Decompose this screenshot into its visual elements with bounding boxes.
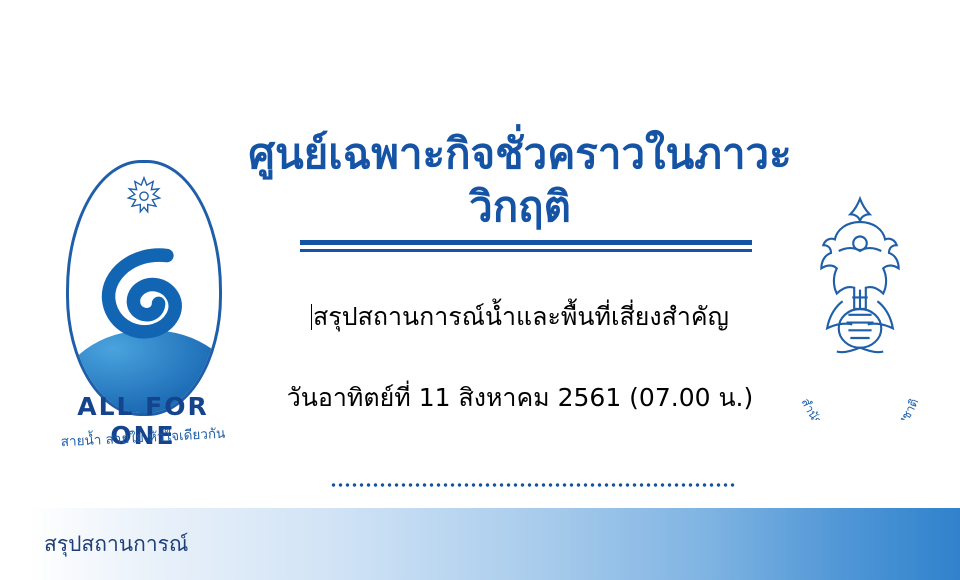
footer-label: สรุปสถานการณ์ (44, 528, 188, 561)
subtitle-line-2: วันอาทิตย์ที่ 11 สิงหาคม 2561 (07.00 น.) (230, 378, 810, 418)
page-title: ศูนย์เฉพาะกิจชั่วคราวในภาวะวิกฤติ (230, 128, 810, 233)
crown-icon (121, 175, 167, 221)
subtitle-line-1-text: สรุปสถานการณ์น้ำและพื้นที่เสี่ยงสำคัญ (313, 302, 729, 331)
subtitle-line-1: สรุปสถานการณ์น้ำและพื้นที่เสี่ยงสำคัญ (230, 300, 810, 334)
water-droplet-icon (66, 160, 222, 416)
rule-group (300, 240, 752, 252)
horizontal-rule-thick (300, 240, 752, 245)
dotted-separator (330, 482, 736, 488)
text-caret (311, 304, 312, 330)
water-swirl-icon (92, 241, 196, 345)
all-for-one-logo: ALL FOR ONE สายน้ำ สายใย หัวใจเดียวกัน (48, 160, 238, 460)
slide-canvas: ALL FOR ONE สายน้ำ สายใย หัวใจเดียวกัน (0, 0, 960, 580)
svg-text:สำนักงานทรัพยากรน้ำแห่งชาติ: สำนักงานทรัพยากรน้ำแห่งชาติ (799, 396, 922, 420)
horizontal-rule-thin (300, 249, 752, 252)
